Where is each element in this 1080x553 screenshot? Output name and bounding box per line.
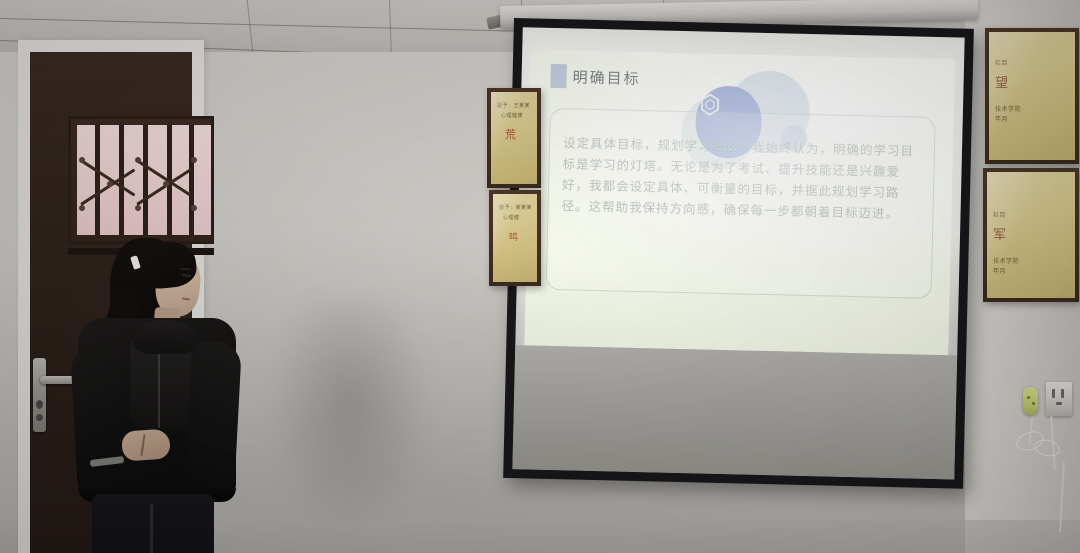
projected-slide: 明确目标 设定具体目标，规划学习路径：我始终认为，明确的学习目标是学习的灯塔。无… <box>524 49 955 355</box>
classroom-photo-scene: 授予：王某某 心理健康 荒 授予：某某某 心理健 鸣 栏目 望 技术学院 年月 … <box>0 0 1080 553</box>
plaque-stamp: 荒 <box>505 126 516 142</box>
wall-outlet[interactable] <box>1046 382 1072 416</box>
door-keyhole-lower-icon <box>36 414 43 421</box>
plaque-line-3: 技术学院 <box>993 256 1019 265</box>
wall-plaque-right-2: 栏目 军 技术学院 年月 <box>983 168 1079 302</box>
sleeve-left <box>70 345 130 498</box>
door-window <box>68 116 214 244</box>
plaque-big-char: 望 <box>995 72 1008 91</box>
plaque-line-3: 技术学院 <box>995 104 1021 113</box>
screen-blank-lower <box>512 345 957 479</box>
plaque-line-2: 心理健康 <box>501 112 523 119</box>
person-shadow <box>255 300 445 553</box>
plaque-big-char: 军 <box>993 224 1006 243</box>
slide-body-text: 设定具体目标，规划学习路径：我始终认为，明确的学习目标是学习的灯塔。无论是为了考… <box>561 132 915 224</box>
screen-surface: 明确目标 设定具体目标，规划学习路径：我始终认为，明确的学习目标是学习的灯塔。无… <box>512 27 964 479</box>
slide-title-accent-bar <box>550 64 567 88</box>
wall-plaque-right-1: 栏目 望 技术学院 年月 <box>985 28 1079 164</box>
trousers <box>92 494 214 553</box>
door-window-pane <box>77 125 211 235</box>
slide-title: 明确目标 <box>572 66 640 89</box>
presenter-person <box>72 236 242 553</box>
clasped-hands <box>121 428 171 461</box>
plaque-line-1: 授予：某某某 <box>499 204 532 211</box>
plaque-line-2: 心理健 <box>503 214 520 221</box>
trouser-seam <box>150 504 153 553</box>
plaque-line-1: 栏目 <box>995 58 1008 67</box>
wall-plaque-left-2: 授予：某某某 心理健 鸣 <box>489 190 541 286</box>
jacket-zipper <box>158 354 160 428</box>
jacket-collar <box>134 320 196 354</box>
plaque-line-1: 栏目 <box>993 210 1006 219</box>
wall-plaque-left-1: 授予：王某某 心理健康 荒 <box>487 88 541 188</box>
sleeve-right <box>184 341 242 495</box>
plaque-stamp: 鸣 <box>509 230 518 243</box>
power-adapter[interactable] <box>1023 387 1038 415</box>
plaque-line-4: 年月 <box>993 266 1006 275</box>
plaque-line-4: 年月 <box>995 114 1008 123</box>
projection-screen[interactable]: 明确目标 设定具体目标，规划学习路径：我始终认为，明确的学习目标是学习的灯塔。无… <box>503 18 974 489</box>
plaque-line-1: 授予：王某某 <box>497 102 530 109</box>
door-keyhole-icon <box>36 400 43 409</box>
